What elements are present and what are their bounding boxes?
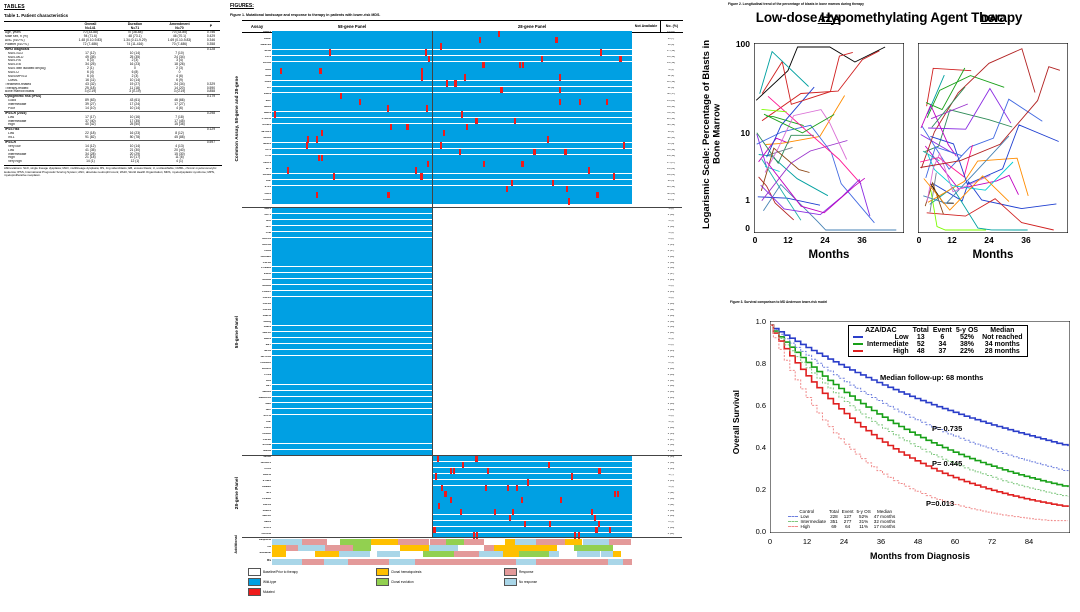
oncoprint-annotation-segment — [557, 545, 574, 551]
legend-value: 48 — [911, 348, 931, 355]
figure3-xlabel: Months from Diagnosis — [770, 551, 1070, 561]
figure2-patient-trajectory — [758, 197, 820, 205]
figure3-caption: Figure 3. Survival comparison to MD Ande… — [730, 300, 1078, 304]
figure2-patient-trajectory — [762, 52, 853, 104]
legend-line-swatch — [786, 524, 799, 529]
legend-value: 22% — [954, 348, 980, 355]
oncoprint-annotation-segment — [577, 551, 601, 557]
oncoprint-wildtype-band — [272, 99, 432, 105]
oncoprint-legend-item: Clonal evolution — [376, 578, 486, 586]
figure3-ytick-0-8: 0.8 — [744, 359, 766, 368]
table-cell: 12 (1) — [113, 160, 157, 164]
figure2-chart-aza — [754, 43, 904, 233]
oncoprint-rx-segment — [289, 559, 302, 565]
oncoprint-annotation-segment — [601, 551, 614, 557]
oncoprint-wildtype-band — [432, 491, 632, 496]
oncoprint-wildtype-band — [432, 93, 632, 99]
legend-value: 6 — [931, 334, 954, 341]
figure3-xtick-48: 48 — [911, 537, 925, 546]
legend-label: Clonal evolution — [391, 580, 414, 584]
legend-row: Intermediate523438%34 months — [851, 341, 1025, 348]
legend-value: 17 months — [872, 524, 896, 529]
oncoprint-wildtype-band — [272, 356, 432, 361]
legend-swatch — [504, 568, 517, 576]
oncoprint-wildtype-band — [272, 432, 432, 437]
oncoprint-annotation-segment — [536, 545, 558, 551]
oncoprint-frequency-label: 13 (5) — [660, 199, 682, 205]
oncoprint-annotation-segment — [505, 539, 515, 545]
oncoprint-rx-segment — [544, 559, 556, 565]
oncoprint-wildtype-band — [272, 379, 432, 384]
figure2-aza-xtick-24: 24 — [818, 235, 832, 245]
figure3-xtick-36: 36 — [874, 537, 888, 546]
figure3-xtick-84: 84 — [1022, 537, 1036, 546]
oncoprint-annotation-segment — [519, 551, 548, 557]
oncoprint-wildtype-band — [432, 143, 632, 149]
figure2-ytick-10: 10 — [728, 128, 750, 138]
legend-swatch — [248, 588, 261, 596]
oncoprint-wildtype-band — [432, 68, 632, 74]
figure3: Figure 3. Survival comparison to MD Ande… — [700, 300, 1078, 610]
figure3-ylabel: Overall Survival — [728, 315, 744, 530]
legend-line-swatch — [851, 341, 865, 348]
oncoprint-wildtype-band — [272, 267, 432, 272]
oncoprint-annotation-segment — [446, 539, 464, 545]
legend-value: 34 months — [980, 341, 1024, 348]
oncoprint-annotation-segment — [302, 539, 327, 545]
figure2: Figure 2. Longitudinal trend of the perc… — [700, 2, 1078, 297]
oncoprint-wildtype-band — [272, 130, 432, 136]
oncoprint-wildtype-band — [432, 486, 632, 491]
oncoprint-legend-item: Baseline/Prior to therapy — [248, 568, 358, 576]
oncoprint-wildtype-band — [272, 302, 432, 307]
oncoprint-wildtype-band — [272, 338, 432, 343]
table-row: Very high14 (1)12 (1)4 (1) — [4, 160, 220, 164]
legend-col-header: Median — [980, 327, 1024, 334]
figure3-ytick-0-4: 0.4 — [744, 443, 766, 452]
oncoprint-rx-segment — [516, 559, 529, 565]
figure3-xtick-60: 60 — [948, 537, 962, 546]
oncoprint-annotation-segment — [484, 545, 494, 551]
oncoprint-rx-segment — [536, 559, 544, 565]
oncoprint-rx-segment — [629, 559, 632, 565]
legend-label: No response — [519, 580, 537, 584]
legend-label: Wild-type — [263, 580, 276, 584]
oncoprint-wildtype-band — [432, 155, 632, 161]
legend-row: Low13652%Not reached — [851, 334, 1025, 341]
legend-col-header: 5-y OS — [954, 327, 980, 334]
oncoprint-annotation-segment — [315, 551, 338, 557]
legend-value: 69 — [828, 524, 841, 529]
oncoprint-wildtype-band — [432, 174, 632, 180]
figure2-aza-xtick-12: 12 — [781, 235, 795, 245]
oncoprint-rx-segment — [556, 559, 569, 565]
oncoprint-annotation-segment — [286, 545, 298, 551]
oncoprint-wildtype-band — [432, 136, 632, 142]
table-cell: 4 (1) — [157, 160, 202, 164]
oncoprint-rx-segment — [468, 559, 490, 565]
figure3-median-followup: Median follow-up: 68 months — [880, 373, 983, 382]
oncoprint-wildtype-band — [432, 180, 632, 186]
legend-col-header: Total — [911, 327, 931, 334]
oncoprint-divider — [242, 207, 682, 208]
oncoprint-wildtype-band — [272, 149, 432, 155]
oncoprint-wildtype-band — [272, 238, 432, 243]
oncoprint-annotation-segment — [419, 539, 429, 545]
oncoprint-annotation-segment — [430, 539, 446, 545]
figure2-patient-trajectory — [931, 125, 1059, 184]
oncoprint-annotation-segment — [631, 539, 632, 545]
oncoprint-annotation-segment — [272, 551, 286, 557]
oncoprint-wildtype-band — [432, 198, 632, 204]
oncoprint-wildtype-band — [272, 285, 432, 290]
oncoprint-wildtype-band — [432, 515, 632, 520]
oncoprint-wildtype-band — [272, 261, 432, 266]
oncoprint-wildtype-band — [272, 279, 432, 284]
oncoprint-annotation-segment — [340, 539, 371, 545]
oncoprint-annotation-segment — [400, 545, 428, 551]
oncoprint-wildtype-band — [432, 456, 632, 461]
oncoprint-wildtype-band — [272, 87, 432, 93]
oncoprint-wildtype-band — [272, 255, 432, 260]
oncoprint-wildtype-band — [272, 273, 432, 278]
oncoprint-rx-segment — [367, 559, 389, 565]
oncoprint-wildtype-band — [272, 320, 432, 325]
oncoprint-wildtype-band — [432, 99, 632, 105]
figure2-patient-trajectory — [767, 162, 865, 213]
oncoprint-group-label-28: 28-gene Panel — [230, 458, 242, 528]
oncoprint-legend-item: Mutated — [248, 588, 358, 596]
oncoprint-wildtype-band — [272, 438, 432, 443]
legend-row: High696411%17 months — [786, 524, 897, 529]
oncoprint-rx-segment — [580, 559, 598, 565]
figures-section-heading: FIGURES: — [230, 3, 254, 9]
oncoprint-wildtype-band — [272, 62, 432, 68]
table1-caption: Table 1. Patient characteristics — [4, 13, 222, 18]
figure2-panel-title-aza: AZA — [754, 13, 904, 25]
oncoprint-wildtype-band — [432, 527, 632, 532]
oncoprint-wildtype-band — [272, 161, 432, 167]
oncoprint-annotation-segment — [377, 551, 400, 557]
oncoprint-annotation-segment — [515, 539, 536, 545]
oncoprint-rx-segment — [302, 559, 319, 565]
oncoprint-annotation-segment — [327, 539, 340, 545]
oncoprint-annotation-segment — [559, 551, 577, 557]
oncoprint-rx-segment — [272, 559, 289, 565]
figure1-oncoprint: Common Assay, 58-gene and 28-gene 58-gen… — [230, 20, 682, 585]
legend-label: Clonal hematopoiesis — [391, 570, 421, 574]
figure2-patient-trajectory — [759, 155, 828, 196]
legend-value: 38% — [954, 341, 980, 348]
figure2-ytick-0: 0 — [728, 223, 750, 233]
oncoprint-annotation-segment — [454, 551, 479, 557]
oncoprint-annotation-label: Evolution — [242, 552, 273, 558]
oncoprint-wildtype-band — [272, 420, 432, 425]
oncoprint-wildtype-band — [432, 74, 632, 80]
legend-label: Baseline/Prior to therapy — [263, 570, 298, 574]
oncoprint-rx-segment — [569, 559, 580, 565]
legend-row: High483722%28 months — [851, 348, 1025, 355]
patient-characteristics-table: OverallN=141DurationN=71AmendmentN=70PAg… — [4, 21, 220, 164]
figure2-dac-xtick-36: 36 — [1019, 235, 1033, 245]
oncoprint-wildtype-band — [272, 214, 432, 219]
oncoprint-wildtype-band — [272, 143, 432, 149]
table-cell — [202, 160, 220, 164]
oncoprint-wildtype-band — [272, 105, 432, 111]
oncoprint-annotation-segment — [549, 551, 559, 557]
legend-swatch — [248, 568, 261, 576]
oncoprint-wildtype-band — [272, 74, 432, 80]
oncoprint-annotation-segment — [524, 545, 536, 551]
figure2-chart-dac — [918, 43, 1068, 233]
tables-panel: TABLES Table 1. Patient characteristics … — [4, 4, 222, 236]
oncoprint-divider — [242, 455, 682, 456]
oncoprint-wildtype-band — [272, 31, 432, 37]
oncoprint-rx-segment — [324, 559, 348, 565]
oncoprint-group-label-58: 58-gene Panel — [230, 208, 242, 456]
legend-group-label: Intermediate — [865, 341, 911, 348]
figure3-xtick-24: 24 — [837, 537, 851, 546]
oncoprint-wildtype-band — [432, 43, 632, 49]
oncoprint-annotation-segment — [339, 551, 371, 557]
figure2-patient-trajectory — [762, 51, 879, 121]
oncoprint-annotation-segment — [353, 545, 362, 551]
oncoprint-annotation-segment — [503, 551, 519, 557]
figure2-patient-trajectory — [757, 134, 767, 169]
figure3-ytick-0-6: 0.6 — [744, 401, 766, 410]
oncoprint-rx-segment — [348, 559, 367, 565]
oncoprint-wildtype-band — [272, 136, 432, 142]
figure1-caption: Figure 1. Mutational landscape and respo… — [230, 13, 680, 17]
oncoprint-wildtype-band — [272, 403, 432, 408]
legend-value: 52 — [911, 341, 931, 348]
legend-value: 64 — [840, 524, 855, 529]
legend-group-label: High — [799, 524, 828, 529]
oncoprint-annotation-segment — [458, 545, 484, 551]
oncoprint-divider — [242, 537, 682, 538]
oncoprint-wildtype-band — [272, 226, 432, 231]
oncoprint-annotation-segment — [609, 539, 631, 545]
oncoprint-annotation-segment — [272, 545, 286, 551]
oncoprint-wildtype-band — [272, 68, 432, 74]
legend-group-label: High — [865, 348, 911, 355]
oncoprint-annotation-segment — [613, 545, 632, 551]
oncoprint-annotation-segment — [272, 539, 302, 545]
legend-label: Response — [519, 570, 533, 574]
oncoprint-wildtype-band — [272, 192, 432, 198]
figure3-xtick-0: 0 — [763, 537, 777, 546]
figure3-ytick-1-0: 1.0 — [744, 317, 766, 326]
oncoprint-legend-item: Wild-type — [248, 578, 358, 586]
oncoprint-wildtype-band — [432, 474, 632, 479]
oncoprint-wildtype-band — [272, 174, 432, 180]
figure3-pvalue-high: P=0.013 — [926, 499, 954, 508]
oncoprint-rx-segment — [598, 559, 608, 565]
oncoprint-gene-label: STAG2 — [242, 199, 273, 205]
oncoprint-wildtype-band — [272, 220, 432, 225]
figure2-patient-trajectory — [766, 96, 845, 145]
oncoprint-wildtype-band — [272, 361, 432, 366]
oncoprint-annotation-segment — [400, 551, 423, 557]
oncoprint-wildtype-band — [272, 118, 432, 124]
oncoprint-wildtype-band — [272, 385, 432, 390]
oncoprint-panel-divider — [432, 31, 433, 537]
figure2-dac-xlabel: Months — [918, 249, 1068, 261]
legend-header-row: AZA/DACTotalEvent5-y OSMedian — [851, 327, 1025, 334]
oncoprint-rx-label: Rx — [242, 559, 273, 566]
figure2-ylabel: Logarismic Scale: Percentage of Blasts i… — [700, 39, 726, 229]
oncoprint-annotation-segment — [398, 539, 419, 545]
figure3-ytick-0-0: 0.0 — [744, 527, 766, 536]
oncoprint-wildtype-band — [272, 198, 432, 204]
figure2-dac-xtick-24: 24 — [982, 235, 996, 245]
oncoprint-wildtype-band — [272, 332, 432, 337]
legend-value: 13 — [911, 334, 931, 341]
table-cell: 14 (1) — [68, 160, 113, 164]
oncoprint-rx-segment — [490, 559, 516, 565]
figure3-xtick-12: 12 — [800, 537, 814, 546]
tables-section-heading: TABLES — [4, 4, 222, 10]
oncoprint-annotation-segment — [464, 539, 484, 545]
oncoprint-wildtype-band — [432, 130, 632, 136]
legend-swatch — [376, 578, 389, 586]
figure2-ytick-1: 1 — [728, 195, 750, 205]
oncoprint-wildtype-band — [432, 62, 632, 68]
oncoprint-wildtype-band — [272, 344, 432, 349]
legend-title: AZA/DAC — [851, 327, 911, 334]
oncoprint-wildtype-band — [272, 297, 432, 302]
oncoprint-wildtype-band — [272, 155, 432, 161]
figure3-pvalue-low: P= 0.735 — [932, 424, 962, 433]
oncoprint-rx-segment — [415, 559, 429, 565]
oncoprint-wildtype-band — [272, 180, 432, 186]
oncoprint-wildtype-band — [272, 81, 432, 87]
oncoprint-wildtype-band — [272, 350, 432, 355]
oncoprint-wildtype-band — [272, 112, 432, 118]
oncoprint-wildtype-band — [272, 43, 432, 49]
oncoprint-wildtype-band — [432, 149, 632, 155]
figure3-pvalue-intermediate: P= 0.445 — [932, 459, 962, 468]
figure2-ytick-100: 100 — [728, 39, 750, 49]
oncoprint-wildtype-band — [432, 81, 632, 87]
oncoprint-wildtype-band — [272, 444, 432, 449]
oncoprint-annotation-segment — [362, 545, 372, 551]
oncoprint-annotation-segment — [494, 545, 523, 551]
oncoprint-legend-item: Clonal hematopoiesis — [376, 568, 486, 576]
figure2-caption: Figure 2. Longitudinal trend of the perc… — [728, 2, 1078, 6]
oncoprint-wildtype-band — [432, 56, 632, 62]
oncoprint-wildtype-band — [272, 50, 432, 56]
oncoprint-wildtype-band — [432, 503, 632, 508]
oncoprint-wildtype-band — [272, 56, 432, 62]
oncoprint-annotation-segment — [479, 551, 503, 557]
legend-line-swatch — [851, 348, 865, 355]
oncoprint-wildtype-band — [432, 161, 632, 167]
oncoprint-rx-segment — [429, 559, 437, 565]
oncoprint-legend-item: No response — [504, 578, 614, 586]
figure2-aza-xtick-36: 36 — [855, 235, 869, 245]
oncoprint-wildtype-band — [432, 87, 632, 93]
oncoprint-annotation-segment — [371, 539, 398, 545]
oncoprint-wildtype-band — [272, 291, 432, 296]
oncoprint-wildtype-band — [272, 314, 432, 319]
figure2-dac-xtick-0: 0 — [912, 235, 926, 245]
legend-swatch — [376, 568, 389, 576]
legend-swatch — [504, 578, 517, 586]
oncoprint-wildtype-band — [432, 480, 632, 485]
oncoprint-wildtype-band — [432, 118, 632, 124]
legend-label: Mutated — [263, 590, 275, 594]
figure3-ytick-0-2: 0.2 — [744, 485, 766, 494]
oncoprint-wildtype-band — [272, 391, 432, 396]
oncoprint-wildtype-band — [432, 497, 632, 502]
oncoprint-annotation-segment — [423, 551, 454, 557]
legend-col-header: Event — [931, 327, 954, 334]
oncoprint-wildtype-band — [272, 426, 432, 431]
oncoprint-annotation-segment — [371, 545, 400, 551]
oncoprint-wildtype-band — [432, 186, 632, 192]
oncoprint-annotation-segment — [490, 539, 505, 545]
figure2-patient-trajectory — [762, 141, 848, 201]
oncoprint-wildtype-band — [272, 409, 432, 414]
figure3-xtick-72: 72 — [985, 537, 999, 546]
oncoprint-wildtype-band — [272, 373, 432, 378]
legend-value: 52% — [954, 334, 980, 341]
oncoprint-wildtype-band — [272, 186, 432, 192]
figure2-dac-xtick-12: 12 — [945, 235, 959, 245]
oncoprint-wildtype-band — [432, 192, 632, 198]
oncoprint-annotation-segment — [429, 545, 452, 551]
oncoprint-wildtype-band — [272, 208, 432, 213]
oncoprint-wildtype-band — [272, 93, 432, 99]
oncoprint-mutation-cell — [568, 198, 570, 205]
legend-value: 34 — [931, 341, 954, 348]
oncoprint-wildtype-band — [432, 124, 632, 130]
oncoprint-wildtype-band — [272, 232, 432, 237]
oncoprint-annotation-segment — [325, 545, 353, 551]
oncoprint-annotation-segment — [286, 551, 315, 557]
oncoprint-wildtype-band — [272, 415, 432, 420]
oncoprint-annotation-segment — [604, 545, 613, 551]
table-row-label: Very high — [4, 160, 68, 164]
oncoprint-rx-segment — [437, 559, 447, 565]
figure2-patient-trajectory — [928, 75, 945, 114]
oncoprint-wildtype-band — [432, 37, 632, 43]
oncoprint-rx-segment — [401, 559, 415, 565]
oncoprint-rx-segment — [529, 559, 536, 565]
table-header-row: OverallN=141DurationN=71AmendmentN=70P — [4, 22, 220, 31]
legend-group-label: Low — [865, 334, 911, 341]
oncoprint-rx-segment — [447, 559, 468, 565]
oncoprint-wildtype-band — [432, 167, 632, 173]
oncoprint-rx-segment — [389, 559, 401, 565]
figure2-patient-trajectory — [921, 105, 956, 156]
legend-value: 28 months — [980, 348, 1024, 355]
oncoprint-legend: Baseline/Prior to therapyWild-typeMutate… — [248, 568, 678, 598]
table-col-header — [4, 22, 68, 31]
oncoprint-wildtype-band — [432, 31, 632, 37]
oncoprint-annotation-segment — [565, 539, 583, 545]
oncoprint-annotation-segment — [613, 551, 621, 557]
table1-footnote: Abbreviations: SLD, single lineage dyspl… — [4, 165, 222, 178]
oncoprint-annotation-segment — [298, 545, 325, 551]
oncoprint-annotation-segment — [621, 551, 632, 557]
oncoprint-rx-segment — [608, 559, 624, 565]
oncoprint-wildtype-band — [272, 326, 432, 331]
oncoprint-matrix: ASXL111 (26)BRAF13 (7)DNMT3A19 (9)EZH217… — [242, 31, 682, 558]
figure3-treated-legend: AZA/DACTotalEvent5-y OSMedianLow13652%No… — [848, 325, 1028, 357]
oncoprint-wildtype-band — [272, 37, 432, 43]
